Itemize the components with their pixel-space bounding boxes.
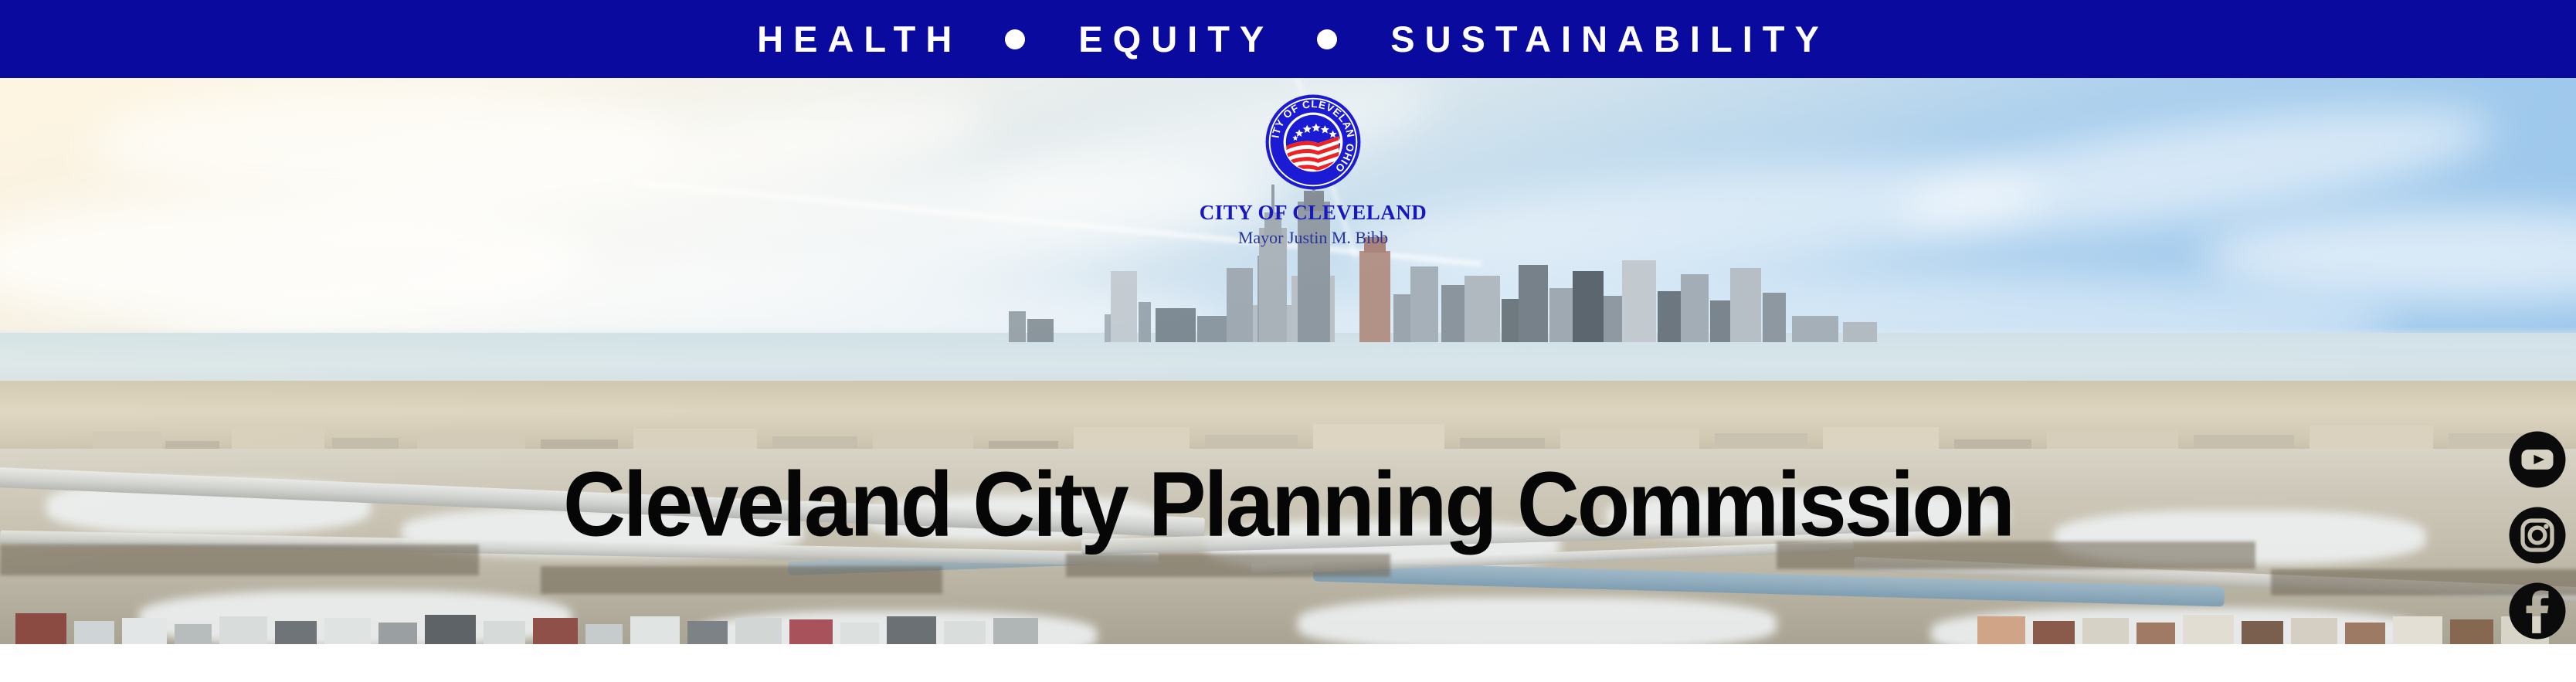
tagline-word-sustainability: SUSTAINABILITY <box>1380 21 1829 57</box>
instagram-link[interactable] <box>2508 506 2567 565</box>
facebook-icon <box>2508 582 2567 640</box>
city-name-label: CITY OF CLEVELAND <box>1159 202 1468 223</box>
facebook-link[interactable] <box>2508 582 2567 640</box>
tagline-word-equity: EQUITY <box>1068 21 1274 57</box>
bullet-dot-icon <box>1005 29 1025 49</box>
tagline-banner: HEALTH EQUITY SUSTAINABILITY <box>0 0 2576 78</box>
page-root: HEALTH EQUITY SUSTAINABILITY <box>0 0 2576 682</box>
social-links <box>2508 430 2567 640</box>
instagram-icon <box>2508 506 2567 565</box>
bottom-whitespace <box>0 644 2576 682</box>
youtube-link[interactable] <box>2508 430 2567 489</box>
city-branding-lockup: CITY OF CLEVELAND OHIO <box>1159 93 1468 246</box>
page-title: Cleveland City Planning Commission <box>0 459 2576 551</box>
city-of-cleveland-seal-icon: CITY OF CLEVELAND OHIO <box>1264 93 1363 192</box>
neighborhood-houses <box>0 611 2576 644</box>
mayor-name-label: Mayor Justin M. Bibb <box>1159 229 1468 246</box>
youtube-icon <box>2508 430 2567 489</box>
tagline-word-health: HEALTH <box>747 21 962 57</box>
bullet-dot-icon <box>1317 29 1337 49</box>
